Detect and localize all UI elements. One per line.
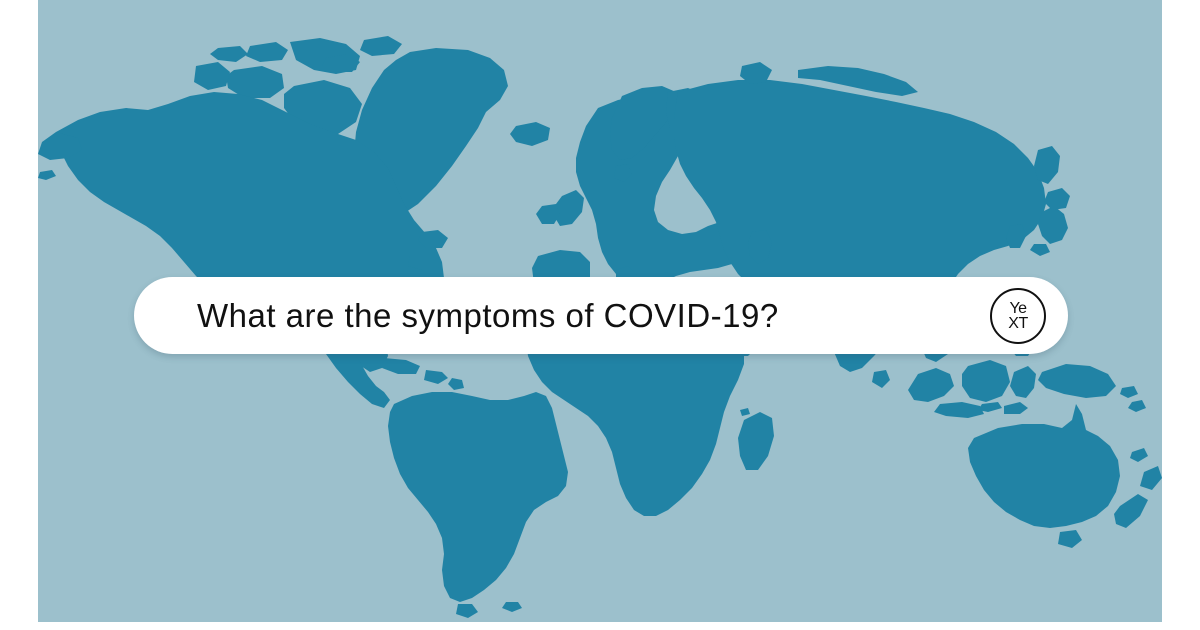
caribbean-islands <box>448 378 464 390</box>
kamchatka-peninsula <box>1034 146 1060 184</box>
madagascar-island <box>738 412 774 470</box>
sulawesi-island <box>1010 366 1036 398</box>
cuba-island <box>382 358 420 374</box>
australia-landmass <box>968 404 1120 528</box>
search-bar[interactable]: What are the symptoms of COVID-19? Ye XT <box>134 277 1068 354</box>
aleutian-islands-1 <box>38 170 56 180</box>
arctic-islands-a <box>246 42 288 62</box>
falkland-islands <box>502 602 522 612</box>
yext-logo-icon[interactable]: Ye XT <box>990 288 1046 344</box>
new-zealand-north <box>1140 466 1162 490</box>
borneo-island <box>962 360 1010 402</box>
timor-island <box>1004 402 1028 414</box>
sri-lanka-island <box>872 370 890 388</box>
iceland-landmass <box>510 122 550 146</box>
japan-hokkaido <box>1044 188 1070 210</box>
banner-canvas: What are the symptoms of COVID-19? Ye XT <box>0 0 1200 630</box>
java-island <box>934 402 984 418</box>
south-america-landmass <box>388 392 568 602</box>
solomon-islands <box>1120 386 1138 398</box>
new-caledonia <box>1130 448 1148 462</box>
new-guinea-island <box>1038 364 1116 398</box>
tasmania-island <box>1058 530 1082 548</box>
pacific-islands-a <box>1128 400 1146 412</box>
comoros-islands <box>740 408 750 416</box>
search-query-text[interactable]: What are the symptoms of COVID-19? <box>197 299 990 332</box>
yext-logo-line-bottom: XT <box>1008 316 1027 331</box>
arctic-islands-d <box>210 46 248 62</box>
british-isles-gb <box>554 190 584 226</box>
yext-logo-line-top: Ye <box>1009 301 1026 316</box>
sumatra-island <box>908 368 954 402</box>
hispaniola-island <box>424 370 448 384</box>
arctic-islands-c <box>360 36 402 56</box>
banks-island <box>194 62 230 90</box>
victoria-island <box>226 66 284 98</box>
asia-landmass <box>674 80 1046 304</box>
japan-kyushu <box>1030 244 1050 256</box>
tierra-del-fuego <box>456 604 478 618</box>
ireland-island <box>536 204 560 224</box>
lesser-sunda-islands <box>978 402 1002 412</box>
new-zealand-south <box>1114 494 1148 528</box>
